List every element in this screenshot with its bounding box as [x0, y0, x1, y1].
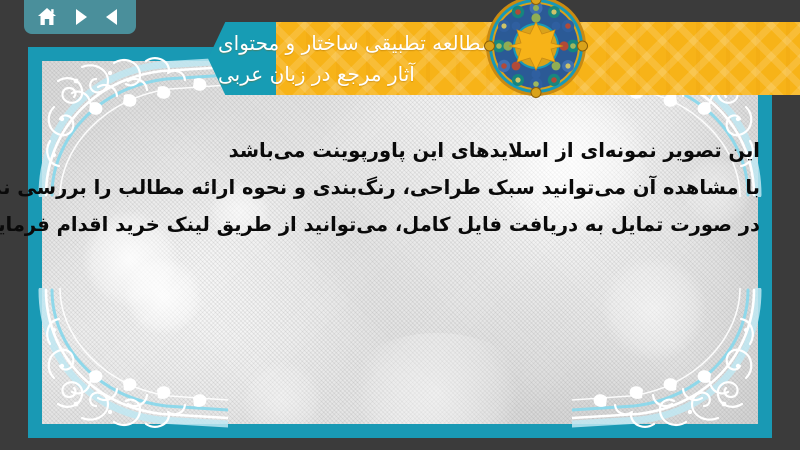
previous-slide-button[interactable] — [100, 4, 126, 30]
islamic-medallion-ornament — [484, 0, 588, 98]
slide-body-text: این تصویر نمونه‌ای از اسلایدهای این پاور… — [48, 132, 760, 243]
next-slide-button[interactable] — [67, 4, 93, 30]
bokeh-circle — [602, 257, 706, 361]
bokeh-circle — [124, 257, 202, 335]
slide-canvas: کامل مطالعه تطبیقی ساختار و محتوای آثار … — [0, 0, 800, 450]
slide-title: کامل مطالعه تطبیقی ساختار و محتوای آثار … — [218, 24, 688, 93]
bokeh-circle — [242, 361, 322, 424]
body-line-3: در صورت تمایل به دریافت فایل کامل، می‌تو… — [48, 206, 760, 243]
title-line-2: آثار مرجع در زبان عربی — [218, 59, 415, 90]
body-line-2: با مشاهده آن می‌توانید سبک طراحی، رنگ‌بن… — [48, 169, 760, 206]
bokeh-circle — [342, 333, 532, 424]
home-button[interactable] — [34, 4, 60, 30]
body-line-1: این تصویر نمونه‌ای از اسلایدهای این پاور… — [48, 132, 760, 169]
home-icon — [36, 6, 58, 28]
slide-navigation-bar — [24, 0, 136, 34]
right-arrow-icon — [70, 7, 90, 27]
left-arrow-icon — [103, 7, 123, 27]
